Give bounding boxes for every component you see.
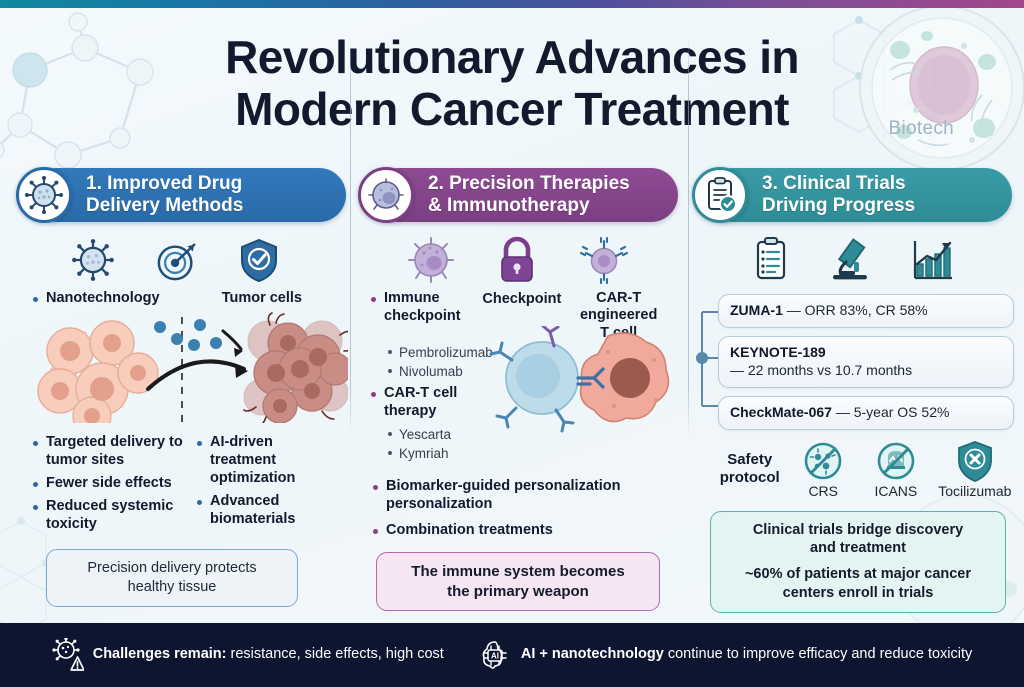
clinical-trials-list: ZUMA-1 — ORR 83%, CR 58% KEYNOTE-189 — 2…: [694, 294, 1014, 430]
page-title: Revolutionary Advances in Modern Cancer …: [225, 32, 799, 135]
cart-tumor-illustration: [486, 326, 682, 443]
infographic-canvas: Biotech Revolutionary Advances in Modern…: [0, 0, 1024, 687]
page-title-line1: Revolutionary Advances in: [225, 31, 799, 83]
column-2-icon-row: [358, 236, 678, 284]
list-item: Biomarker-guided personalization persona…: [372, 478, 668, 514]
trial-name: ZUMA-1: [730, 302, 783, 318]
column-improved-drug-delivery: 1. Improved Drug Delivery Methods: [0, 168, 348, 623]
section-header-1[interactable]: 1. Improved Drug Delivery Methods: [30, 168, 346, 222]
list-item: Kymriah: [386, 445, 536, 463]
page-header: Revolutionary Advances in Modern Cancer …: [0, 8, 1024, 160]
trial-name: CheckMate-067: [730, 404, 832, 420]
footer-rest-2: continue to improve efficacy and reduce …: [664, 646, 972, 662]
footer-item-ai: AI AI + nanotechnology continue to impro…: [478, 638, 972, 672]
safety-item-icans: ICANS: [863, 440, 929, 499]
no-neurotoxicity-icon: [875, 440, 917, 482]
trial-name: KEYNOTE-189: [730, 344, 826, 360]
column-clinical-trials: 3. Clinical Trials Driving Progress: [688, 168, 1024, 623]
columns-container: 1. Improved Drug Delivery Methods: [0, 168, 1024, 623]
car-t-cell-icon: [578, 236, 630, 284]
column-precision-therapies: 2. Precision Therapies & Immunotherapy: [348, 168, 688, 623]
trial-result: — ORR 83%, CR 58%: [787, 302, 928, 318]
safety-label-line1: Safety: [727, 451, 772, 468]
column-2-bullet-immune: Immune checkpoint: [370, 290, 474, 326]
clipboard-check-badge-icon: [692, 167, 748, 223]
bullet-cart-line2: therapy: [384, 403, 436, 419]
nanoparticle-icon: [71, 238, 115, 282]
column-2-callout-line1: The immune system becomes: [389, 562, 647, 582]
list-item: CAR-T cell therapy: [370, 385, 490, 421]
list-item: Advanced biomaterials: [196, 493, 318, 529]
label-cart-line1: CAR-T: [596, 290, 641, 306]
shield-x-icon: [956, 440, 994, 482]
column-2-extra-bullets: Biomarker-guided personalization persona…: [358, 478, 678, 540]
label-cart-line2: engineered: [580, 307, 657, 323]
column-1-benefits-right: AI-driven treatment optimization Advance…: [196, 434, 318, 539]
section-3-title-line1: 3. Clinical Trials: [762, 173, 906, 194]
label-checkpoint: Checkpoint: [474, 290, 569, 308]
column-3-callout-line1: Clinical trials bridge discovery: [723, 521, 993, 540]
bullet-cart-line1: CAR-T cell: [384, 385, 457, 401]
section-header-3-title: 3. Clinical Trials Driving Progress: [762, 173, 915, 218]
lock-icon: [496, 236, 538, 284]
section-3-title-line2: Driving Progress: [762, 195, 915, 216]
safety-label-line2: protocol: [720, 469, 780, 486]
column-2-callout-line2: the primary weapon: [389, 582, 647, 602]
column-3-callout-line2: and treatment: [723, 539, 993, 558]
section-1-title-line1: 1. Improved Drug: [86, 173, 242, 194]
column-1-benefits-left: Targeted delivery to tumor sites Fewer s…: [32, 434, 188, 539]
trial-result: — 5-year OS 52%: [836, 404, 950, 420]
trial-row-zuma-1[interactable]: ZUMA-1 — ORR 83%, CR 58%: [718, 294, 1014, 328]
safety-item-tocilizumab: Tocilizumab: [936, 440, 1014, 499]
top-gradient-bar: [0, 0, 1024, 8]
column-2-callout: The immune system becomes the primary we…: [376, 552, 660, 611]
no-cytokine-storm-icon: [802, 440, 844, 482]
column-1-callout: Precision delivery protects healthy tiss…: [46, 549, 298, 607]
section-header-1-title: 1. Improved Drug Delivery Methods: [86, 173, 243, 218]
footer-text-ai: AI + nanotechnology continue to improve …: [521, 646, 972, 663]
footer-rest-1: resistance, side effects, high cost: [226, 646, 443, 662]
list-item: Combination treatments: [372, 522, 668, 540]
list-item: AI-driven treatment optimization: [196, 434, 318, 488]
ai-chip-icon: AI: [478, 638, 512, 672]
target-icon: [156, 240, 198, 282]
section-header-2-title: 2. Precision Therapies & Immunotherapy: [428, 173, 630, 218]
column-1-callout-line2: healthy tissue: [59, 578, 285, 597]
column-3-callout: Clinical trials bridge discovery and tre…: [710, 511, 1006, 613]
safety-protocol-label: Safety protocol: [716, 451, 783, 487]
svg-text:AI: AI: [491, 652, 499, 661]
list-item: Targeted delivery to tumor sites: [32, 434, 188, 470]
trial-result: — 22 months vs 10.7 months: [730, 362, 912, 378]
section-header-2[interactable]: 2. Precision Therapies & Immunotherapy: [372, 168, 678, 222]
immune-cell-badge-icon: [358, 167, 414, 223]
nanoparticle-badge-icon: [16, 167, 72, 223]
column-3-callout-line4: centers enroll in trials: [723, 584, 993, 603]
trial-row-keynote-189[interactable]: KEYNOTE-189 — 22 months vs 10.7 months: [718, 336, 1014, 388]
trial-branch-connector: [694, 294, 718, 422]
clipboard-list-icon: [752, 236, 790, 282]
page-title-line2: Modern Cancer Treatment: [225, 84, 799, 136]
immune-cell-icon: [406, 236, 456, 284]
footer-text-challenges: Challenges remain: resistance, side effe…: [93, 646, 444, 663]
safety-caption: Tocilizumab: [938, 483, 1011, 499]
footer-bold-1: Challenges remain:: [93, 646, 227, 662]
nanoparticle-tumor-illustration: [16, 311, 334, 428]
microscope-icon: [827, 236, 873, 282]
footer-item-challenges: Challenges remain: resistance, side effe…: [52, 638, 444, 672]
section-1-title-line2: Delivery Methods: [86, 195, 243, 216]
column-1-callout-line1: Precision delivery protects: [59, 559, 285, 578]
section-header-3[interactable]: 3. Clinical Trials Driving Progress: [706, 168, 1012, 222]
label-nanotechnology: Nanotechnology: [32, 290, 160, 308]
safety-caption: ICANS: [874, 483, 917, 499]
list-item: Fewer side effects: [32, 475, 188, 493]
list-item: Reduced systemic toxicity: [32, 498, 188, 534]
list-item: Immune checkpoint: [370, 290, 474, 326]
column-1-icon-row: [16, 238, 334, 282]
column-2-bullet-cart: CAR-T cell therapy: [370, 385, 490, 421]
bullet-immune-line1: Immune: [384, 290, 440, 306]
column-3-icon-row: [694, 236, 1014, 282]
section-2-title-line2: & Immunotherapy: [428, 195, 590, 216]
shield-check-icon: [239, 238, 279, 282]
safety-item-crs: CRS: [790, 440, 856, 499]
safety-protocol-row: Safety protocol CRS: [694, 440, 1014, 499]
bullet-immune-line2: checkpoint: [384, 308, 461, 324]
trial-row-checkmate-067[interactable]: CheckMate-067 — 5-year OS 52%: [718, 396, 1014, 430]
bar-chart-up-icon: [910, 236, 956, 282]
footer-bar: Challenges remain: resistance, side effe…: [0, 623, 1024, 687]
column-3-callout-line3: ~60% of patients at major cancer: [723, 565, 993, 584]
section-2-title-line1: 2. Precision Therapies: [428, 173, 630, 194]
challenge-warning-icon: [52, 638, 84, 672]
footer-bold-2: AI + nanotechnology: [521, 646, 664, 662]
label-tumor-cells: Tumor cells: [222, 290, 302, 307]
safety-caption: CRS: [808, 483, 838, 499]
